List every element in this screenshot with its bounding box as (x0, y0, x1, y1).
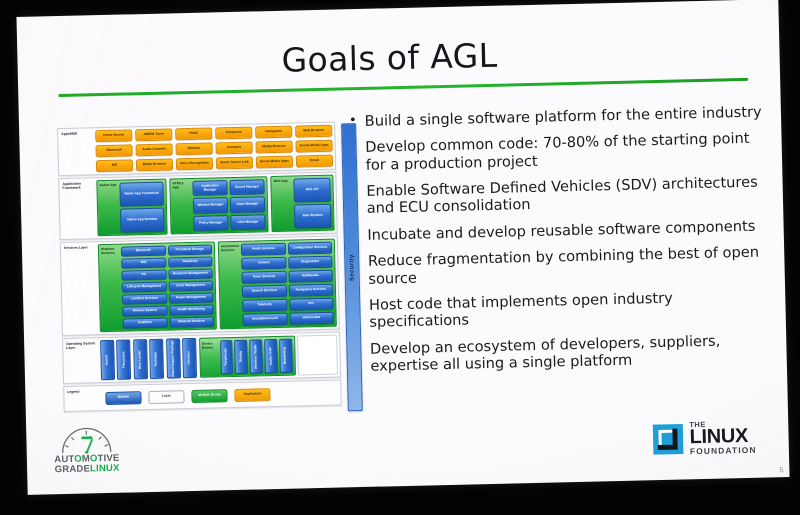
architecture-module: Wifi (121, 258, 166, 269)
architecture-module: Network Services (169, 316, 214, 327)
group-body-html5-app: Application ManagerSound ManagerWindow M… (192, 179, 265, 231)
application-tile: Media Browser (136, 158, 173, 171)
layer-label-application-framework: Application Framework (59, 178, 95, 239)
legend-label: Legend (64, 386, 100, 411)
architecture-module: Health Monitoring (169, 304, 214, 315)
application-tile: Web Browser (295, 125, 332, 138)
os-module-label: Toolchain (155, 351, 159, 366)
page-title: Goals of AGL (281, 31, 702, 80)
linux-foundation-mark-icon (652, 423, 684, 455)
architecture-module: Camera (241, 257, 286, 270)
legend-body: ModuleLayerModule GroupApplication (99, 381, 340, 411)
bullet-text: Reduce fragmentation by combining the be… (368, 243, 773, 287)
architecture-module: Audio Services (241, 243, 286, 256)
architecture-module: Lifecycle Management (122, 282, 167, 293)
layer-label-services: Services Layer (61, 242, 98, 335)
group-label-platform-services: Platform Services (101, 247, 121, 329)
legend-chip-row: ModuleLayerModule GroupApplication (101, 383, 338, 409)
module-group-native-app: Native App Native App FrameworkNative Ap… (96, 179, 167, 237)
module-group-web-app: Web App Web APIWeb Runtime (270, 175, 334, 232)
architecture-module: Telephony (168, 256, 213, 267)
application-tile-grid: Home ScreenAM/FM TunerHVACTelephoneNavig… (95, 125, 333, 173)
bullet-item: •Develop common code: 70-80% of the star… (349, 130, 770, 175)
os-module: Boot Loader (133, 339, 148, 379)
application-tile: Social Media Apps (256, 155, 293, 168)
application-tile: Media Browser (255, 140, 292, 153)
goals-bullet-list: •Build a single software platform for th… (349, 103, 775, 384)
architecture-module: Location Services (122, 294, 167, 305)
architecture-module: Application Manager (192, 180, 227, 196)
architecture-module: Tuner Services (242, 271, 287, 284)
linux-foundation-wordmark: THE LINUX FOUNDATION (689, 419, 757, 455)
bullet-item: •Enable Software Defined Vehicles (SDV) … (350, 173, 771, 218)
os-module: Toolchain (149, 339, 164, 379)
architecture-module: Sound Manager (229, 179, 264, 195)
architecture-module: Graphics (123, 318, 168, 329)
device-driver-label: Peripherals (225, 348, 229, 365)
architecture-module: Policy Manager (193, 215, 228, 231)
os-module-label: Boot Loader (138, 350, 142, 369)
presentation-slide: Goals of AGL •Build a single software pl… (16, 0, 789, 495)
architecture-module: Input Manager (230, 197, 265, 213)
legend-chip: Module Group (191, 389, 227, 403)
architecture-module: Smartphone Link (243, 313, 288, 326)
group-label-native-app: Native App (99, 183, 118, 233)
layer-body-services: Platform Services BluetoothPersistent St… (96, 237, 339, 335)
lf-word-foundation: FOUNDATION (690, 446, 757, 456)
legend-chip: Application (234, 388, 270, 402)
os-module: Kernel (100, 340, 115, 380)
os-module-label: Filesystem (122, 351, 126, 368)
group-body-web-app: Web APIWeb Runtime (293, 178, 331, 229)
layer-body-application-framework: Native App Native App FrameworkNative Ap… (94, 173, 336, 239)
layer-body-operating-system: KernelFilesystemBoot LoaderToolchainBoar… (98, 333, 340, 383)
diagram-legend: Legend ModuleLayerModule GroupApplicatio… (63, 379, 342, 412)
application-tile: Smart Device Link (216, 156, 253, 169)
agl-reference-architecture-diagram: Apps/HMI Home ScreenAM/FM TunerHVACTelep… (57, 122, 342, 426)
architecture-module: Web Runtime (294, 204, 331, 229)
bullet-item: •Build a single software platform for th… (349, 103, 769, 130)
architecture-module: Navigation Services (288, 284, 333, 297)
application-tile: Telephone (215, 127, 252, 140)
title-underline-rule (58, 78, 748, 97)
linux-foundation-logo: THE LINUX FOUNDATION (652, 413, 773, 462)
group-label-html5-app: HTML5 App (172, 181, 191, 231)
module-group-device-drivers: Device Drivers PeripheralsDisplayWireles… (199, 336, 296, 378)
legend-chip: Module (105, 391, 141, 405)
security-bar-label: Security (349, 254, 356, 281)
group-label-automotive-services: Automotive Services (221, 244, 241, 326)
architecture-module: Bluetooth (121, 246, 166, 257)
architecture-module: Resource Management (168, 268, 213, 279)
architecture-module: Error Management (168, 280, 213, 291)
layer-label-operating-system: Operating System Layer (63, 338, 99, 383)
architecture-module: Persistent Storage (167, 245, 212, 256)
layer-apps-hmi: Apps/HMI Home ScreenAM/FM TunerHVACTelep… (57, 122, 336, 177)
application-tile: Social Media Apps (295, 139, 332, 152)
bullet-text: Develop an ecosystem of developers, supp… (370, 331, 775, 375)
architecture-module: Window Manager (193, 197, 228, 213)
group-label-web-app: Web App (273, 179, 292, 229)
automotive-grade-linux-logo: AUTOMOTIVE GRADELINUX (34, 426, 139, 480)
architecture-module: Native App Runtime (120, 208, 165, 233)
bullet-text: Host code that implements open industry … (369, 287, 774, 331)
application-tile: Contacts (215, 141, 252, 154)
legend-chip: Layer (148, 390, 184, 404)
application-tile: AM/FM Tuner (135, 128, 172, 141)
architecture-module: Libal Manager (230, 214, 265, 230)
bullet-text: Develop common code: 70-80% of the start… (365, 130, 770, 174)
architecture-module: Multimedia (288, 270, 333, 283)
application-tile: HVAC (175, 127, 212, 140)
device-driver-module: Audio / DSP (264, 339, 278, 373)
layer-operating-system: Operating System Layer KernelFilesystemB… (62, 332, 341, 385)
group-body-device-drivers: PeripheralsDisplayWireless / RadioAudio … (220, 339, 293, 375)
application-tile: Bluetooth (96, 144, 133, 157)
architecture-module: Configuration Services (287, 242, 332, 255)
os-module-row: KernelFilesystemBoot LoaderToolchainBoar… (100, 335, 338, 381)
os-empty-slot (297, 335, 338, 376)
os-module-label: Board Support Package (171, 340, 175, 376)
group-body-native-app: Native App FrameworkNative App Runtime (119, 182, 164, 233)
architecture-module: Telemetry (242, 299, 287, 312)
os-module-label: Kernel (106, 355, 110, 365)
agl-logo-text: AUTOMOTIVE GRADELINUX (35, 453, 139, 475)
os-module-label: Libraries (188, 351, 192, 365)
architecture-module: Power Management (169, 292, 214, 303)
device-driver-module: Wireless / Radio (249, 339, 263, 373)
application-tile: Voice Recognition (176, 157, 213, 170)
module-group-platform-services: Platform Services BluetoothPersistent St… (98, 241, 217, 332)
application-tile: Navigation (255, 126, 292, 139)
agl-logo-line-grade-linux: GRADELINUX (35, 463, 139, 475)
application-tile: Weather (175, 142, 212, 155)
layer-services: Services Layer Platform Services Bluetoo… (60, 236, 340, 337)
group-body-automotive-services: Audio ServicesConfiguration ServicesCame… (241, 242, 334, 326)
device-driver-label: Wireless / Radio (254, 344, 258, 369)
agl-logo-word-linux: LINUX (90, 462, 120, 474)
module-group-automotive-services: Automotive Services Audio ServicesConfig… (218, 239, 337, 330)
module-group-html5-app: HTML5 App Application ManagerSound Manag… (169, 176, 268, 234)
os-module: Filesystem (117, 339, 132, 379)
slide-number: 5 (779, 467, 783, 474)
architecture-module: PC (121, 270, 166, 281)
architecture-module: Diagnostics (288, 256, 333, 269)
bullet-text: Enable Software Defined Vehicles (SDV) a… (366, 173, 771, 217)
device-driver-label: Networking (284, 347, 288, 364)
device-driver-module: Peripherals (220, 340, 234, 374)
os-module: Libraries (182, 338, 197, 378)
bullet-item: •Reduce fragmentation by combining the b… (352, 243, 773, 288)
architecture-module: Web API (293, 178, 330, 203)
group-body-platform-services: BluetoothPersistent StorageWifiTelephony… (121, 245, 214, 329)
application-tile: MS (96, 159, 133, 172)
application-tile: Email (296, 154, 333, 167)
bullet-item: •Develop an ecosystem of developers, sup… (354, 331, 775, 376)
bullet-text: Incubate and develop reusable software c… (367, 217, 772, 244)
architecture-module: IPC (289, 298, 334, 311)
application-tile: Audio Controls (136, 143, 173, 156)
speedometer-gauge-icon (58, 427, 115, 454)
application-tile: Home Screen (95, 129, 132, 142)
device-driver-module: Display (234, 340, 248, 374)
device-driver-label: Audio / DSP (269, 347, 273, 365)
photograph-of-projected-slide: Goals of AGL •Build a single software pl… (0, 0, 800, 515)
architecture-module: Speech Services (242, 285, 287, 298)
layer-body-apps-hmi: Home ScreenAM/FM TunerHVACTelephoneNavig… (93, 123, 335, 175)
architecture-module: Window System (122, 306, 167, 317)
group-label-device-drivers: Device Drivers (202, 340, 219, 374)
architecture-module: Vehicle Bus (289, 312, 334, 325)
device-driver-label: Display (239, 351, 243, 362)
bullet-item: •Incubate and develop reusable software … (352, 217, 772, 244)
device-driver-module: Networking (279, 339, 293, 373)
bullet-item: •Host code that implements open industry… (353, 287, 774, 332)
bullet-text: Build a single software platform for the… (365, 103, 770, 130)
architecture-module: Native App Framework (119, 182, 164, 207)
os-module: Board Support Package (166, 338, 181, 378)
layer-label-apps-hmi: Apps/HMI (58, 128, 94, 175)
layer-application-framework: Application Framework Native App Native … (58, 172, 337, 241)
